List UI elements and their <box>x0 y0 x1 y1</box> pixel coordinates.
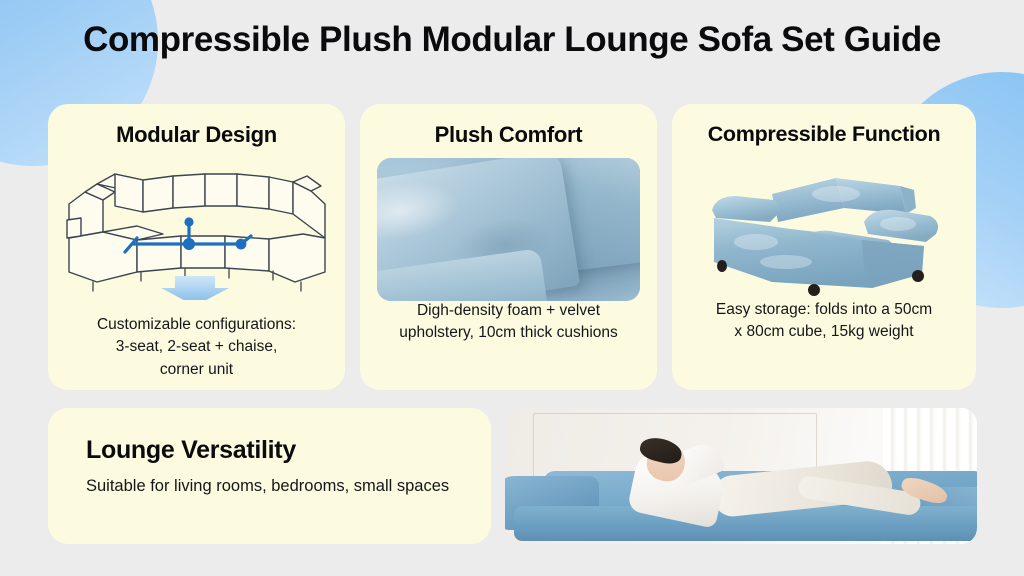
card-compressible-function: Compressible Function <box>672 104 976 390</box>
velvet-sofa-photo <box>686 156 962 304</box>
card-title-compressible-function: Compressible Function <box>672 122 976 147</box>
lifestyle-photo-person-on-sofa <box>505 408 977 544</box>
card-body-lounge-versatility: Suitable for living rooms, bedrooms, sma… <box>86 477 491 496</box>
sectional-sofa-line-drawing <box>63 160 331 300</box>
velvet-cushion-photo <box>377 158 640 301</box>
card-body-line: x 80cm cube, 15kg weight <box>672 321 976 343</box>
card-body-modular-design: Customizable configurations: 3-seat, 2-s… <box>48 314 345 381</box>
card-body-line: 3-seat, 2-seat + chaise, <box>48 336 345 358</box>
card-title-plush-comfort: Plush Comfort <box>360 122 657 148</box>
infographic-page: Compressible Plush Modular Lounge Sofa S… <box>0 0 1024 576</box>
card-body-plush-comfort: Digh-density foam + velvet upholstery, 1… <box>360 300 657 345</box>
card-body-line: Customizable configurations: <box>48 314 345 336</box>
down-arrow-icon <box>161 276 229 300</box>
card-plush-comfort: Plush Comfort Digh-density foam + velvet… <box>360 104 657 390</box>
card-body-line: upholstery, 10cm thick cushions <box>360 322 657 344</box>
card-body-compressible-function: Easy storage: folds into a 50cm x 80cm c… <box>672 299 976 344</box>
card-body-line: Digh-density foam + velvet <box>360 300 657 322</box>
card-title-modular-design: Modular Design <box>48 122 345 148</box>
card-lounge-versatility: Lounge Versatility Suitable for living r… <box>48 408 491 544</box>
card-modular-design: Modular Design <box>48 104 345 390</box>
card-title-lounge-versatility: Lounge Versatility <box>86 436 491 465</box>
card-body-line: corner unit <box>48 359 345 381</box>
page-title: Compressible Plush Modular Lounge Sofa S… <box>0 20 1024 60</box>
